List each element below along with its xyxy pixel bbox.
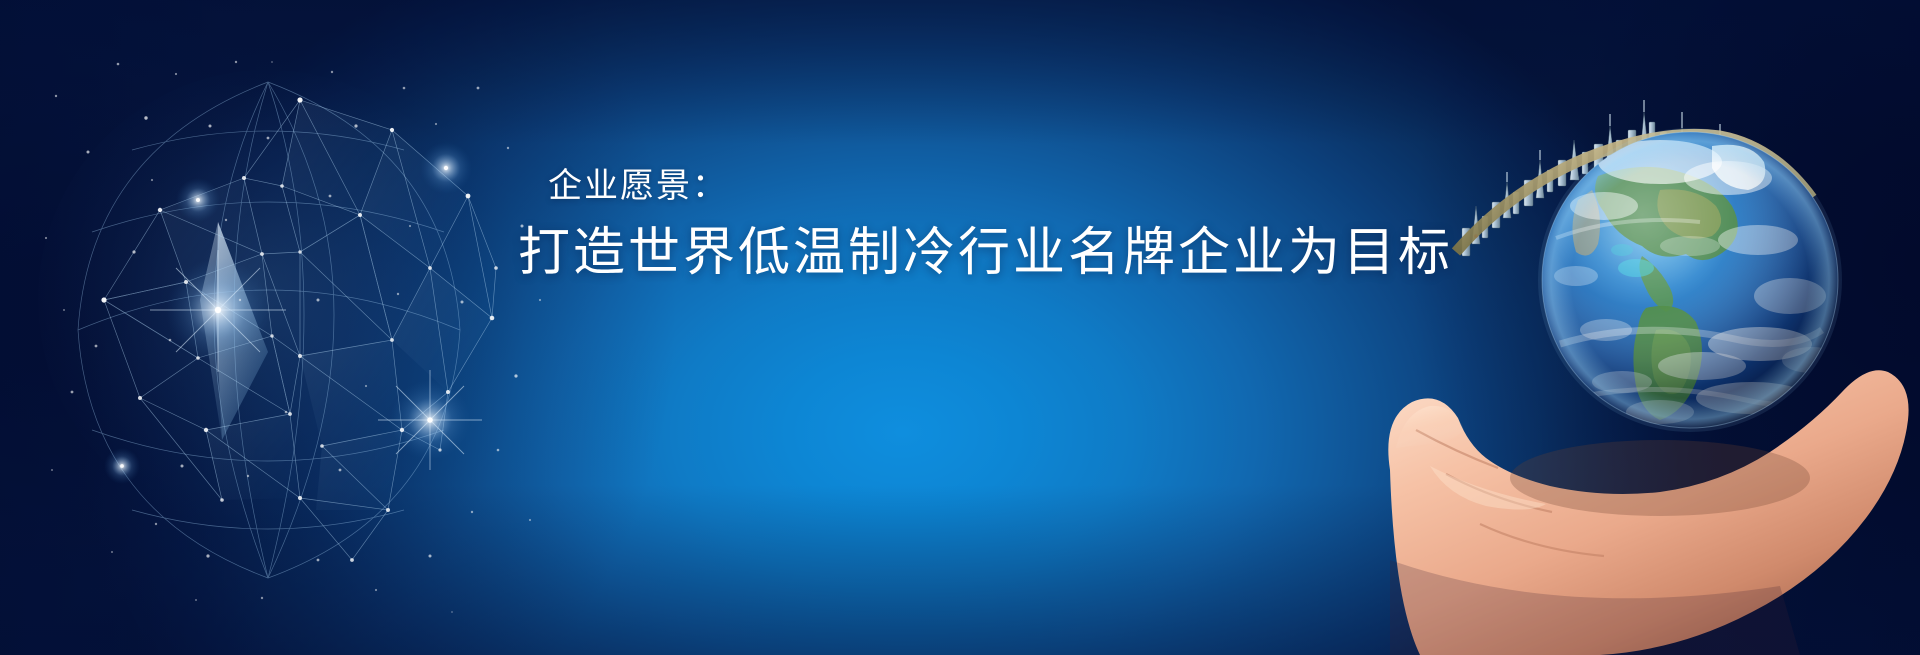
vision-headline: 打造世界低温制冷行业名牌企业为目标: [518, 222, 1348, 285]
network-globe-graphic: [0, 0, 560, 655]
earth-sphere: [1538, 128, 1842, 432]
vision-eyebrow: 企业愿景：: [548, 165, 1348, 208]
globe-in-hand-graphic: [1360, 0, 1920, 655]
vision-banner: 企业愿景： 打造世界低温制冷行业名牌企业为目标: [0, 0, 1920, 655]
vision-text-block: 企业愿景： 打造世界低温制冷行业名牌企业为目标: [448, 165, 1348, 285]
